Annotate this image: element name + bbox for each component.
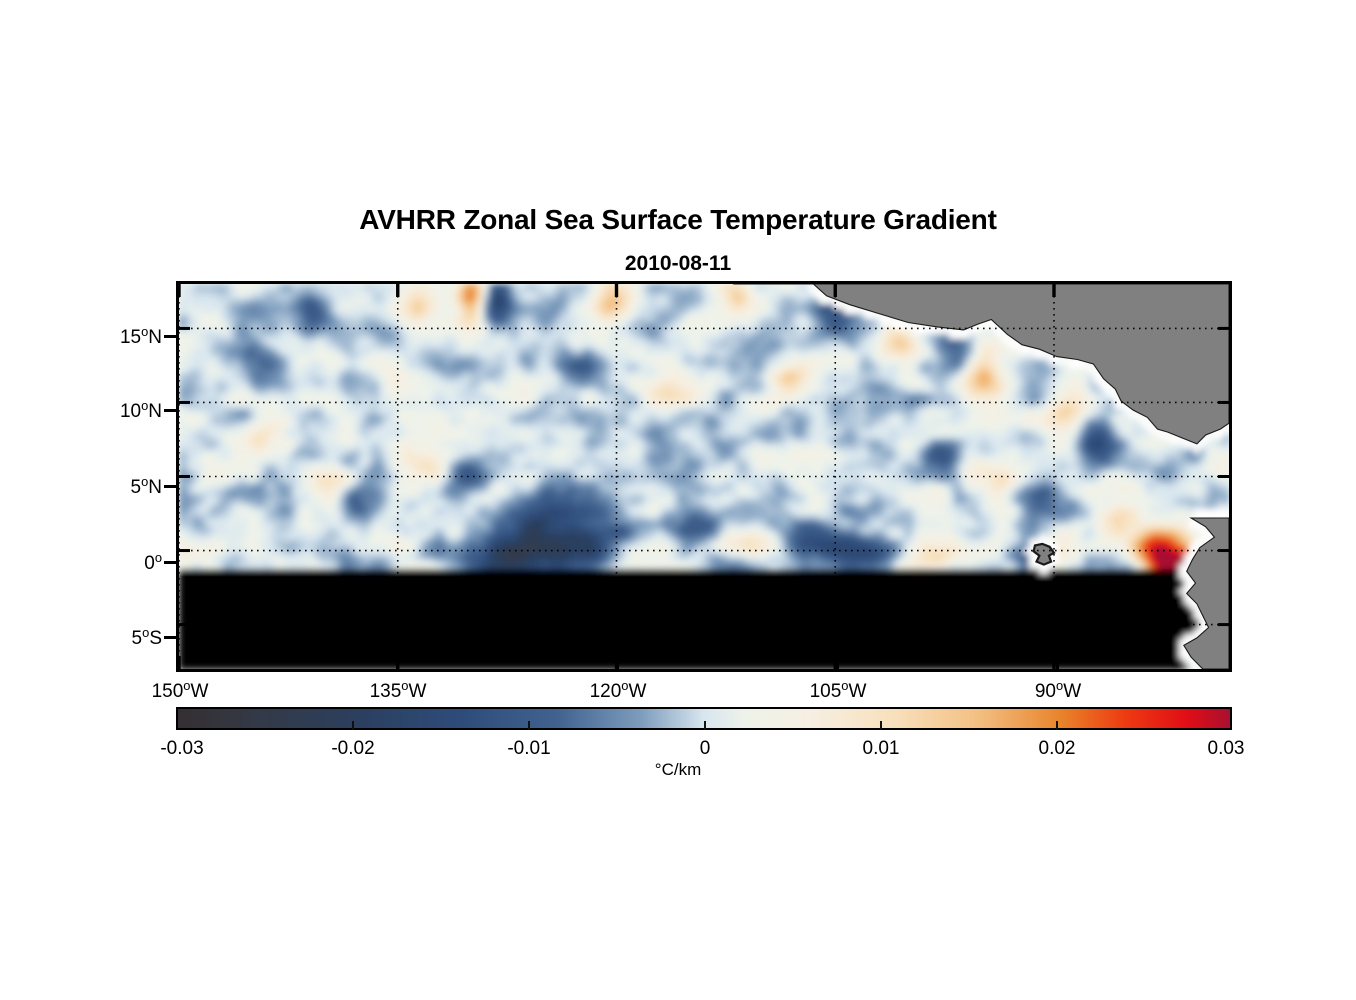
x-tick-label-150W: 150oW [152,678,209,703]
y-tick-mark-5N [164,485,178,488]
sst-gradient-raster [179,284,1229,669]
y-tick-label-0: 0o [144,550,162,575]
colorbar-unit-label: °C/km [0,760,1356,780]
page-title: AVHRR Zonal Sea Surface Temperature Grad… [0,204,1356,236]
colorbar-label--0.02: -0.02 [331,738,374,760]
y-tick-mark-5S [164,636,178,639]
colorbar-tick-0.02 [1056,721,1058,730]
figure-canvas: AVHRR Zonal Sea Surface Temperature Grad… [0,0,1356,1000]
x-tick-label-135W: 135oW [370,678,427,703]
colorbar-label-0.03: 0.03 [1208,738,1245,760]
colorbar-tick--0.02 [352,721,354,730]
colorbar-tick-0.01 [880,721,882,730]
x-tick-label-90W: 90oW [1035,678,1081,703]
x-tick-mark-105W [836,659,839,672]
y-tick-mark-0 [164,561,178,564]
figure-subtitle: 2010-08-11 [0,252,1356,276]
y-tick-label-5N: 5oN [131,474,163,499]
x-tick-mark-90W [1056,659,1059,672]
colorbar-label-0.01: 0.01 [863,738,900,760]
y-tick-mark-15N [164,335,178,338]
x-tick-label-120W: 120oW [590,678,647,703]
colorbar-label-0: 0 [700,738,711,760]
map-axes [176,281,1232,672]
y-tick-label-10N: 10oN [120,398,162,423]
x-tick-mark-150W [176,659,179,672]
sst-gradient-field [179,284,1229,669]
land-galapagos [1034,544,1054,565]
colorbar-tick--0.01 [528,721,530,730]
y-tick-mark-10N [164,409,178,412]
y-tick-label-15N: 15oN [120,324,162,349]
y-tick-label-5S: 5oS [132,625,162,650]
colorbar-label--0.01: -0.01 [507,738,550,760]
x-tick-mark-135W [396,659,399,672]
colorbar-label-0.02: 0.02 [1039,738,1076,760]
x-tick-mark-120W [616,659,619,672]
x-tick-label-105W: 105oW [810,678,867,703]
colorbar-label--0.03: -0.03 [160,738,203,760]
colorbar-tick-0 [704,721,706,730]
